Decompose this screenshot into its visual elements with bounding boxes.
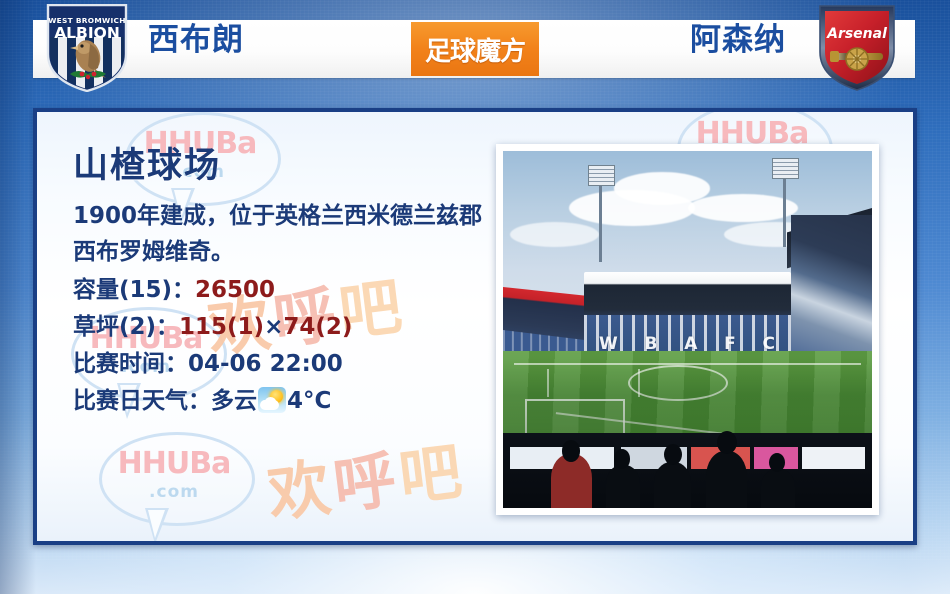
match-time-value: 04-06 22:00 bbox=[188, 351, 343, 377]
floodlight-left bbox=[599, 183, 602, 262]
weather-row: 比赛日天气：多云4°C bbox=[73, 383, 493, 420]
home-crest-line2-text: ALBION bbox=[54, 24, 120, 42]
photo-spectator-2-head bbox=[614, 449, 631, 469]
pitch-row: 草坪(2)：115(1)×74(2) bbox=[73, 309, 493, 346]
weather-temperature: 4°C bbox=[287, 388, 331, 414]
watermark-bubble-text-3: HHUBa bbox=[99, 446, 249, 481]
stadium-photo: W B A F C bbox=[503, 151, 872, 508]
weather-condition: 多云 bbox=[211, 388, 257, 414]
watermark-brand-char-6: 吧 bbox=[395, 434, 469, 515]
away-crest-text: Arsenal bbox=[826, 26, 887, 42]
pitch-dimension-separator: × bbox=[264, 314, 283, 340]
photo-spectator-1-head bbox=[562, 440, 580, 461]
away-team-crest[interactable]: Arsenal bbox=[814, 4, 900, 96]
pitch-length-value: 115(1) bbox=[179, 314, 264, 340]
home-team-name: 西布朗 bbox=[148, 22, 244, 58]
partly-cloudy-icon bbox=[258, 387, 286, 413]
weather-label: 比赛日天气： bbox=[73, 388, 211, 414]
pitch-label: 草坪(2)： bbox=[73, 314, 179, 340]
home-team-crest[interactable]: WEST BROMWICH ALBION bbox=[44, 4, 130, 96]
stadium-info-card: HHUBa .com HHUBa .com HHUBa .com HHUBa .… bbox=[33, 108, 917, 545]
match-time-label: 比赛时间： bbox=[73, 351, 188, 377]
watermark-brand-char-5: 呼 bbox=[329, 442, 403, 523]
capacity-row: 容量(15)：26500 bbox=[73, 272, 493, 309]
photo-right-stand bbox=[791, 215, 872, 372]
floodlight-right bbox=[783, 176, 786, 247]
photo-spectator-3 bbox=[654, 462, 691, 508]
stadium-photo-frame[interactable]: W B A F C bbox=[496, 144, 879, 515]
away-team-name: 阿森纳 bbox=[690, 22, 786, 58]
photo-spectator-3-head bbox=[664, 444, 682, 465]
photo-spectator-1 bbox=[551, 454, 592, 508]
pitch-width-value: 74(2) bbox=[283, 314, 352, 340]
site-logo[interactable]: 足球魔方 bbox=[411, 22, 539, 76]
stadium-title: 山楂球场 bbox=[73, 144, 493, 188]
photo-spectator-5 bbox=[761, 469, 794, 508]
photo-spectator-2 bbox=[606, 465, 639, 508]
stadium-description: 1900年建成，位于英格兰西米德兰兹郡西布罗姆维奇。 bbox=[73, 198, 488, 270]
photo-ad-board-5 bbox=[802, 447, 865, 468]
screenshot-root: WEST BROMWICH ALBION 西布朗 足球魔方 阿森纳 bbox=[0, 0, 950, 594]
stadium-info-block: 山楂球场 1900年建成，位于英格兰西米德兰兹郡西布罗姆维奇。 容量(15)：2… bbox=[73, 144, 493, 420]
watermark-brand-char-4: 欢 bbox=[264, 450, 338, 531]
capacity-value: 26500 bbox=[195, 277, 275, 303]
watermark-bubble-bottom: HHUBa .com bbox=[99, 432, 249, 544]
site-logo-text: 足球魔方 bbox=[425, 31, 525, 68]
match-time-row: 比赛时间：04-06 22:00 bbox=[73, 346, 493, 383]
capacity-label: 容量(15)： bbox=[73, 277, 195, 303]
photo-spectator-4 bbox=[706, 451, 747, 508]
watermark-brand-bottom: 欢呼吧 bbox=[262, 420, 470, 533]
watermark-bubble-domain-3: .com bbox=[99, 482, 249, 502]
